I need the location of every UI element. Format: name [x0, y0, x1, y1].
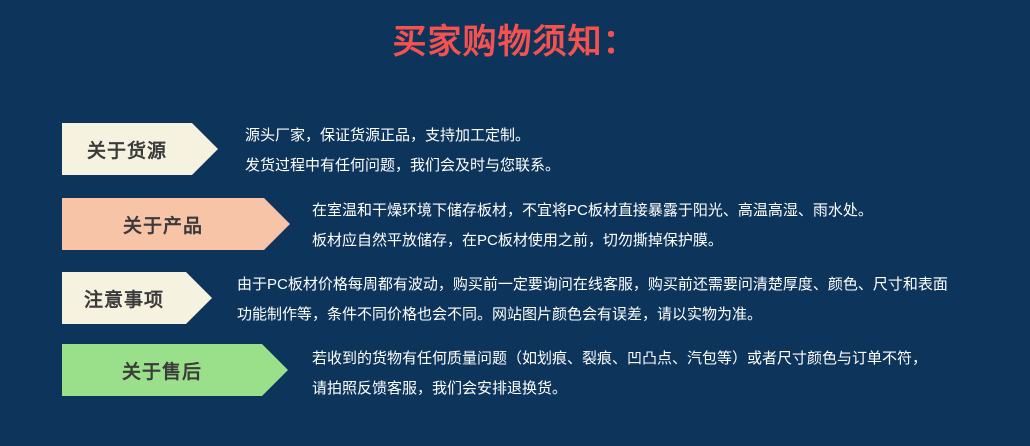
- page-title: 买家购物须知：: [0, 20, 1030, 64]
- section-aftersales: 关于售后 若收到的货物有任何质量问题（如划痕、裂痕、凹凸点、汽包等）或者尺寸颜色…: [0, 340, 1030, 404]
- banner-notice[interactable]: 注意事项: [62, 272, 212, 324]
- description-line: 板材应自然平放储存，在PC板材使用之前，切勿撕掉保护膜。: [312, 226, 873, 256]
- banner-label-product: 关于产品: [123, 211, 203, 238]
- section-source: 关于货源 源头厂家，保证货源正品，支持加工定制。 发货过程中有任何问题，我们会及…: [0, 119, 1030, 183]
- description-line: 请拍照反馈客服，我们会安排退换货。: [312, 374, 927, 404]
- banner-label-aftersales: 关于售后: [122, 357, 202, 384]
- section-notice: 注意事项 由于PC板材价格每周都有波动，购买前一定要询问在线客服，购买前还需要问…: [0, 268, 1030, 332]
- banner-label-source: 关于货源: [87, 136, 167, 163]
- description-line: 若收到的货物有任何质量问题（如划痕、裂痕、凹凸点、汽包等）或者尺寸颜色与订单不符…: [312, 344, 927, 374]
- section-product: 关于产品 在室温和干燥环境下储存板材，不宜将PC板材直接暴露于阳光、高温高湿、雨…: [0, 194, 1030, 258]
- description-notice: 由于PC板材价格每周都有波动，购买前一定要询问在线客服，购买前还需要问清楚厚度、…: [237, 270, 948, 330]
- description-line: 功能制作等，条件不同价格也会不同。网站图片颜色会有误差，请以实物为准。: [237, 300, 948, 330]
- banner-aftersales[interactable]: 关于售后: [62, 344, 288, 396]
- description-line: 发货过程中有任何问题，我们会及时与您联系。: [245, 151, 560, 181]
- buyer-notice-page: 买家购物须知： 关于货源 源头厂家，保证货源正品，支持加工定制。 发货过程中有任…: [0, 0, 1030, 446]
- description-line: 在室温和干燥环境下储存板材，不宜将PC板材直接暴露于阳光、高温高湿、雨水处。: [312, 196, 873, 226]
- description-line: 由于PC板材价格每周都有波动，购买前一定要询问在线客服，购买前还需要问清楚厚度、…: [237, 270, 948, 300]
- banner-label-notice: 注意事项: [84, 285, 164, 312]
- description-line: 源头厂家，保证货源正品，支持加工定制。: [245, 121, 560, 151]
- banner-source[interactable]: 关于货源: [62, 123, 218, 175]
- banner-product[interactable]: 关于产品: [62, 198, 290, 250]
- description-product: 在室温和干燥环境下储存板材，不宜将PC板材直接暴露于阳光、高温高湿、雨水处。 板…: [312, 196, 873, 256]
- description-source: 源头厂家，保证货源正品，支持加工定制。 发货过程中有任何问题，我们会及时与您联系…: [245, 121, 560, 181]
- description-aftersales: 若收到的货物有任何质量问题（如划痕、裂痕、凹凸点、汽包等）或者尺寸颜色与订单不符…: [312, 344, 927, 404]
